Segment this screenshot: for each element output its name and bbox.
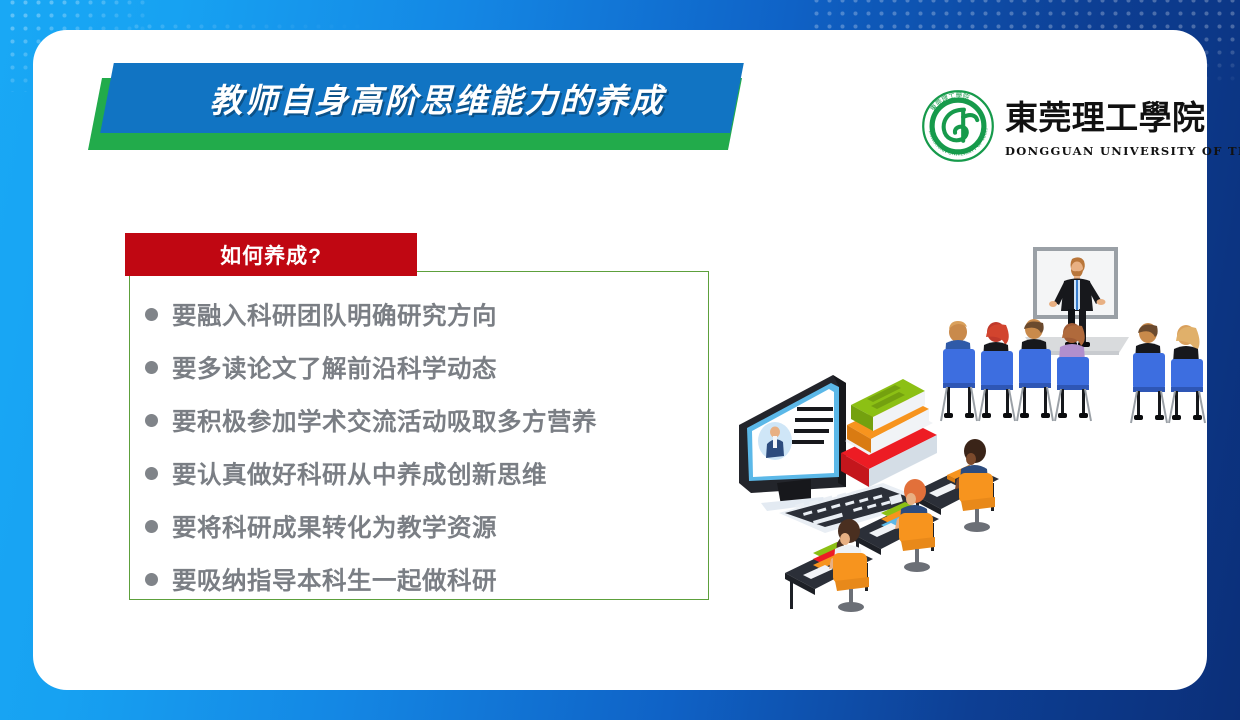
list-item: 要将科研成果转化为教学资源 bbox=[145, 500, 725, 553]
chair-back bbox=[1057, 357, 1089, 387]
university-emblem-icon: 東莞理工學院 DONGGUAN UNIVERSITY OF TECH bbox=[921, 89, 995, 163]
list-item: 要多读论文了解前沿科学动态 bbox=[145, 341, 725, 394]
illustration-group bbox=[733, 225, 1213, 625]
bullet-dot-icon bbox=[145, 308, 158, 321]
bullet-dot-icon bbox=[145, 573, 158, 586]
chair-back bbox=[943, 349, 975, 385]
audience-member bbox=[979, 322, 1015, 421]
desktop-monitor-video-lecture bbox=[739, 375, 846, 511]
list-item: 要吸纳指导本科生一起做科研 bbox=[145, 553, 725, 606]
stacked-books-icon bbox=[841, 379, 937, 487]
list-item-label: 要融入科研团队明确研究方向 bbox=[172, 297, 497, 332]
lecture-seminar-scene bbox=[941, 247, 1205, 423]
chair-back bbox=[1019, 349, 1051, 385]
bullet-list: 要融入科研团队明确研究方向 要多读论文了解前沿科学动态 要积极参加学术交流活动吸… bbox=[145, 288, 725, 606]
logo-char-6: 院 bbox=[1172, 91, 1205, 139]
bullet-dot-icon bbox=[145, 520, 158, 533]
bullet-dot-icon bbox=[145, 361, 158, 374]
audience-left-group bbox=[941, 319, 1091, 421]
list-item-label: 要吸纳指导本科生一起做科研 bbox=[172, 562, 497, 597]
section-header-badge: 如何养成? bbox=[125, 233, 417, 276]
illustration-svg bbox=[733, 225, 1213, 625]
bullet-dot-icon bbox=[145, 467, 158, 480]
slide: 教师自身高阶思维能力的养成 東莞理工學院 DONGGUAN UNIVERSITY… bbox=[0, 0, 1240, 720]
logo-char-4: 工 bbox=[1105, 91, 1138, 139]
audience-right-group bbox=[1131, 323, 1205, 423]
title-banner: 教师自身高阶思维能力的养成 bbox=[77, 60, 757, 160]
online-learning-classroom-scene bbox=[739, 375, 999, 612]
bullet-dot-icon bbox=[145, 414, 158, 427]
university-name-en: DONGGUAN UNIVERSITY OF TECHNOLOGY bbox=[1005, 144, 1205, 158]
university-name-cn: 東 莞 理 工 學 院 bbox=[1005, 86, 1205, 144]
logo-char-5: 學 bbox=[1139, 91, 1172, 139]
list-item-label: 要认真做好科研从中养成创新思维 bbox=[172, 456, 547, 491]
audience-member bbox=[1169, 325, 1205, 423]
logo-char-2: 莞 bbox=[1038, 91, 1071, 139]
university-logo: 東莞理工學院 DONGGUAN UNIVERSITY OF TECH 東 莞 理… bbox=[921, 86, 1206, 172]
chair-back bbox=[1133, 353, 1165, 389]
chair-back bbox=[1171, 359, 1203, 389]
student-figure bbox=[955, 439, 995, 532]
student-desk-group bbox=[785, 519, 873, 612]
list-item-label: 要将科研成果转化为教学资源 bbox=[172, 509, 497, 544]
audience-member bbox=[1017, 319, 1053, 421]
list-item: 要积极参加学术交流活动吸取多方营养 bbox=[145, 394, 725, 447]
audience-member bbox=[941, 321, 977, 421]
list-item-label: 要积极参加学术交流活动吸取多方营养 bbox=[172, 403, 597, 438]
page-title: 教师自身高阶思维能力的养成 bbox=[137, 63, 737, 133]
list-item: 要认真做好科研从中养成创新思维 bbox=[145, 447, 725, 500]
audience-member bbox=[1131, 323, 1167, 423]
logo-char-1: 東 bbox=[1005, 91, 1038, 139]
logo-char-3: 理 bbox=[1072, 91, 1105, 139]
chair-back bbox=[981, 351, 1013, 387]
list-item-label: 要多读论文了解前沿科学动态 bbox=[172, 350, 497, 385]
slide-card: 教师自身高阶思维能力的养成 東莞理工學院 DONGGUAN UNIVERSITY… bbox=[33, 30, 1207, 690]
list-item: 要融入科研团队明确研究方向 bbox=[145, 288, 725, 341]
